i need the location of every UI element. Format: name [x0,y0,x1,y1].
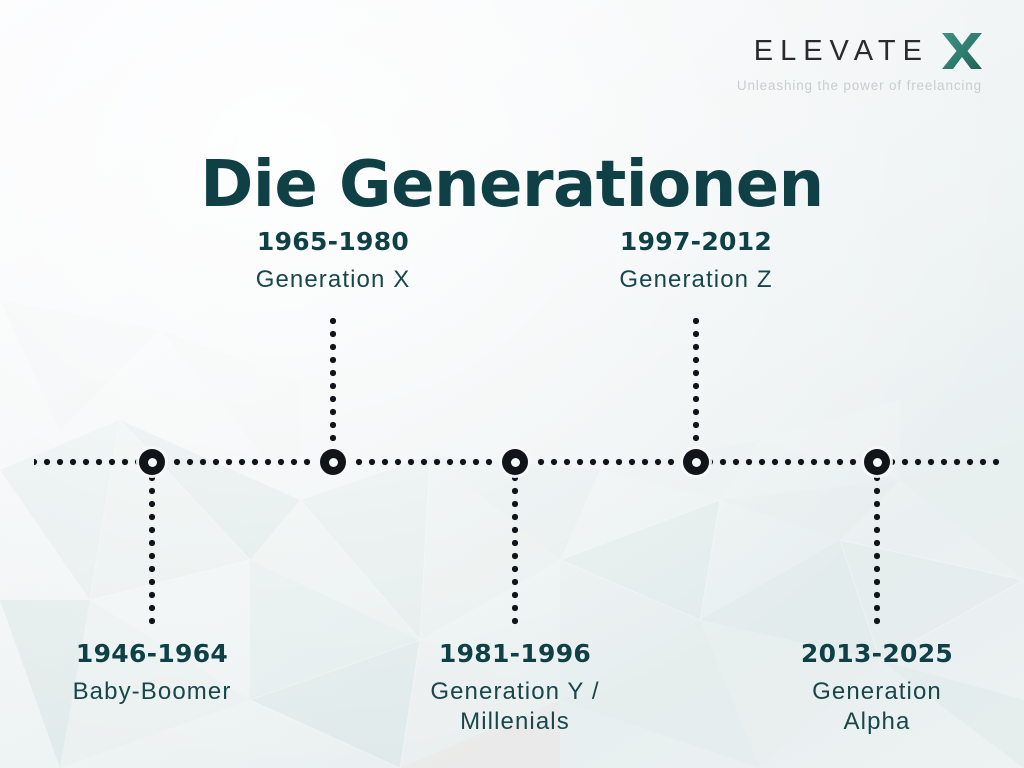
axis-dot [954,459,960,465]
axis-dot [239,459,245,465]
timeline-name-generation-x: Generation X [183,265,483,296]
axis-dot [928,459,934,465]
axis-dot [941,459,947,465]
connector-dot [149,514,155,520]
connector-dot [693,422,699,428]
axis-dot [44,459,50,465]
connector-dot [874,540,880,546]
axis-dot [57,459,63,465]
connector-dot [149,501,155,507]
timeline-node-marker-generation-z[interactable] [683,449,709,475]
axis-dot [395,459,401,465]
connector-dot [149,475,155,481]
connector-dot [512,540,518,546]
connector-dot [874,592,880,598]
axis-dot [473,459,479,465]
axis-dot [434,459,440,465]
timeline-label-generation-y[interactable]: 1981-1996Generation Y /Millenials [365,640,665,738]
axis-dot [967,459,973,465]
connector-dot [693,409,699,415]
connector-dot [330,383,336,389]
axis-dot [356,459,362,465]
axis-dot [811,459,817,465]
timeline-label-generation-x[interactable]: 1965-1980Generation X [183,228,483,295]
connector-dot [330,409,336,415]
axis-dot [629,459,635,465]
axis-dot [759,459,765,465]
connector-dot [512,501,518,507]
axis-dot [915,459,921,465]
connector-dot [874,501,880,507]
connector-dot [149,605,155,611]
connector-dot [512,605,518,611]
connector-dot [874,605,880,611]
connector-dot [149,488,155,494]
axis-dot [83,459,89,465]
connector-dot [874,514,880,520]
axis-dot [798,459,804,465]
connector-dot [330,435,336,441]
timeline-name-generation-alpha: GenerationAlpha [727,677,1024,738]
timeline-years-generation-y: 1981-1996 [365,640,665,668]
connector-dot [330,422,336,428]
axis-dot [252,459,258,465]
axis-dot [34,459,37,465]
axis-dot [174,459,180,465]
axis-dot [746,459,752,465]
connector-dot [149,566,155,572]
connector-dot [330,331,336,337]
connector-dot [149,553,155,559]
axis-dot [96,459,102,465]
connector-dot [512,527,518,533]
connector-dot [149,579,155,585]
timeline-years-baby-boomer: 1946-1964 [2,640,302,668]
connector-dot [874,579,880,585]
axis-dot [603,459,609,465]
connector-dot [512,514,518,520]
infographic-canvas: ELEVATE Unleashing the power of freelanc… [0,0,1024,768]
axis-dot [785,459,791,465]
connector-baby-boomer [149,475,155,632]
connector-dot [512,592,518,598]
connector-generation-z [693,318,699,450]
logo-wordmark: ELEVATE [754,37,929,66]
logo-x-glyph [942,33,982,69]
connector-dot [330,344,336,350]
timeline-label-generation-z[interactable]: 1997-2012Generation Z [546,228,846,295]
connector-dot [149,592,155,598]
axis-dot [720,459,726,465]
connector-dot [693,344,699,350]
connector-dot [693,318,699,324]
axis-dot [616,459,622,465]
connector-dot [693,383,699,389]
connector-dot [693,331,699,337]
connector-dot [149,540,155,546]
axis-dot [213,459,219,465]
axis-dot [902,459,908,465]
axis-dot [486,459,492,465]
page-title: Die Generationen [0,153,1024,217]
logo-row: ELEVATE [737,33,982,69]
axis-dot [538,459,544,465]
axis-dot [369,459,375,465]
axis-dot [460,459,466,465]
connector-dot [149,618,155,624]
connector-dot [330,396,336,402]
timeline-name-baby-boomer: Baby-Boomer [2,677,302,708]
connector-dot [874,488,880,494]
connector-generation-x [330,318,336,450]
timeline-label-baby-boomer[interactable]: 1946-1964Baby-Boomer [2,640,302,707]
axis-dot [122,459,128,465]
timeline-years-generation-x: 1965-1980 [183,228,483,256]
connector-dot [693,435,699,441]
timeline-name-generation-z: Generation Z [546,265,846,296]
connector-dot [874,527,880,533]
axis-dot [447,459,453,465]
timeline-node-marker-baby-boomer[interactable] [139,449,165,475]
axis-dot [564,459,570,465]
timeline-label-generation-alpha[interactable]: 2013-2025GenerationAlpha [727,640,1024,738]
axis-dot [70,459,76,465]
brand-logo[interactable]: ELEVATE Unleashing the power of freelanc… [737,33,982,93]
timeline-node-marker-generation-x[interactable] [320,449,346,475]
timeline-node-marker-generation-alpha[interactable] [864,449,890,475]
connector-dot [330,318,336,324]
connector-dot [512,566,518,572]
axis-dot [642,459,648,465]
axis-dot [733,459,739,465]
axis-dot [850,459,856,465]
axis-dot [291,459,297,465]
connector-dot [512,553,518,559]
connector-dot [149,527,155,533]
connector-dot [874,566,880,572]
axis-dot [668,459,674,465]
timeline-years-generation-z: 1997-2012 [546,228,846,256]
axis-dot [109,459,115,465]
connector-dot [512,618,518,624]
timeline-name-generation-y: Generation Y /Millenials [365,677,665,738]
axis-dot [304,459,310,465]
axis-dot [993,459,999,465]
axis-dot [382,459,388,465]
connector-dot [512,488,518,494]
connector-dot [330,357,336,363]
timeline-node-marker-generation-y[interactable] [502,449,528,475]
connector-dot [874,553,880,559]
axis-dot [278,459,284,465]
axis-dot [980,459,986,465]
axis-dot [577,459,583,465]
logo-x-icon [942,33,982,69]
logo-tagline: Unleashing the power of freelancing [737,78,982,93]
axis-dot [265,459,271,465]
connector-dot [874,475,880,481]
axis-dot [226,459,232,465]
connector-dot [512,579,518,585]
axis-dot [421,459,427,465]
axis-dot [772,459,778,465]
axis-dot [408,459,414,465]
axis-dot [187,459,193,465]
axis-dot [200,459,206,465]
timeline-years-generation-alpha: 2013-2025 [727,640,1024,668]
connector-generation-y [512,475,518,632]
axis-dot [590,459,596,465]
connector-dot [874,618,880,624]
connector-dot [512,475,518,481]
axis-dot [824,459,830,465]
connector-generation-alpha [874,475,880,632]
axis-dot [837,459,843,465]
axis-dot [655,459,661,465]
axis-dot [551,459,557,465]
connector-dot [693,357,699,363]
connector-dot [693,396,699,402]
connector-dot [693,370,699,376]
connector-dot [330,370,336,376]
